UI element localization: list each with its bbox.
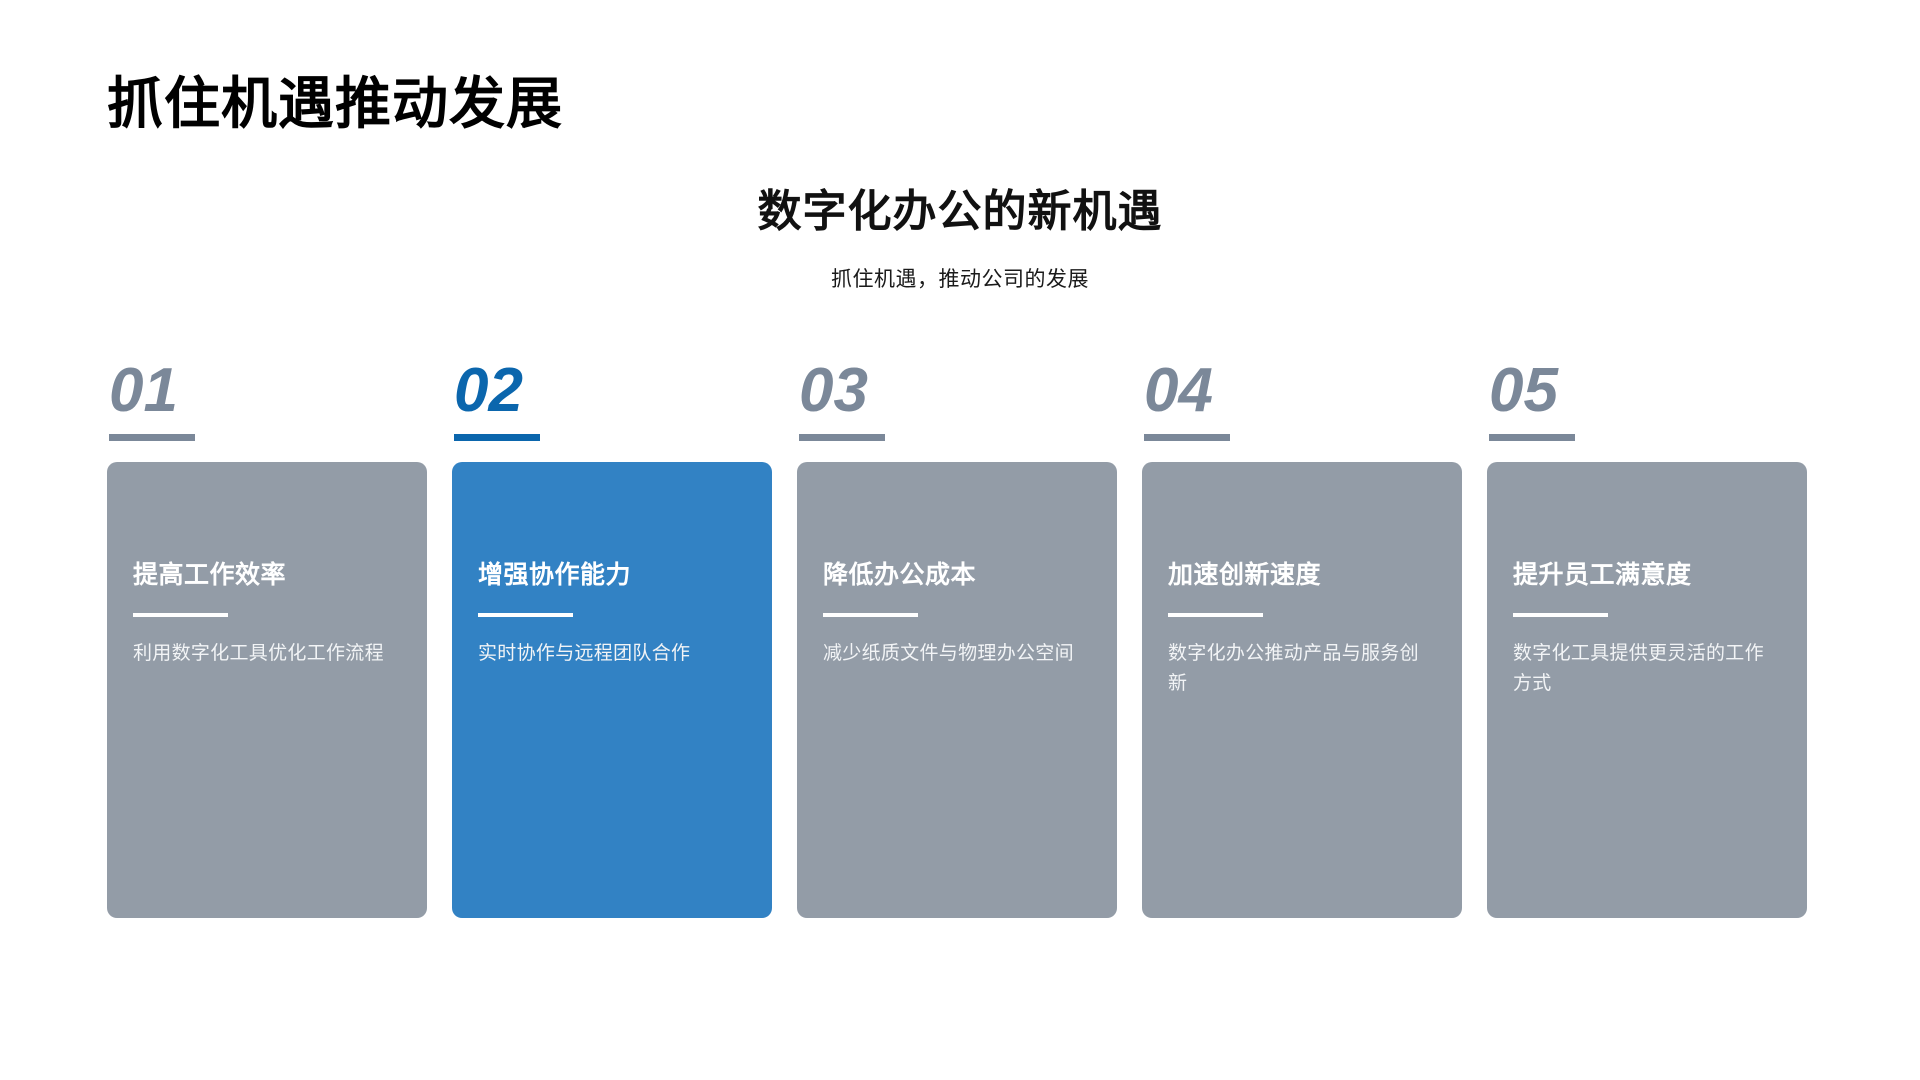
- card-number-wrap-05: 05: [1487, 360, 1807, 462]
- card-number-rule-01: [109, 434, 195, 441]
- heading-block: 数字化办公的新机遇 抓住机遇，推动公司的发展: [0, 186, 1920, 293]
- card-05[interactable]: 提升员工满意度 数字化工具提供更灵活的工作方式: [1487, 462, 1807, 918]
- card-03[interactable]: 降低办公成本 减少纸质文件与物理办公空间: [797, 462, 1117, 918]
- card-column-05: 05 提升员工满意度 数字化工具提供更灵活的工作方式: [1487, 360, 1807, 918]
- card-01[interactable]: 提高工作效率 利用数字化工具优化工作流程: [107, 462, 427, 918]
- page-title: 抓住机遇推动发展: [107, 72, 563, 136]
- card-number-wrap-01: 01: [107, 360, 427, 462]
- card-divider-04: [1168, 613, 1263, 617]
- card-divider-03: [823, 613, 918, 617]
- card-02[interactable]: 增强协作能力 实时协作与远程团队合作: [452, 462, 772, 918]
- section-heading: 数字化办公的新机遇: [0, 186, 1920, 239]
- card-number-group-04: 04: [1144, 360, 1230, 441]
- slide-canvas: 抓住机遇推动发展 数字化办公的新机遇 抓住机遇，推动公司的发展 01 提高工作效…: [0, 0, 1920, 1080]
- card-column-04: 04 加速创新速度 数字化办公推动产品与服务创新: [1142, 360, 1462, 918]
- card-divider-02: [478, 613, 573, 617]
- card-title-01: 提高工作效率: [133, 560, 401, 591]
- card-number-04: 04: [1144, 360, 1213, 428]
- card-number-rule-05: [1489, 434, 1575, 441]
- card-number-05: 05: [1489, 360, 1558, 428]
- card-number-group-01: 01: [109, 360, 195, 441]
- card-number-group-02: 02: [454, 360, 540, 441]
- card-number-01: 01: [109, 360, 178, 428]
- card-number-wrap-02: 02: [452, 360, 772, 462]
- card-number-03: 03: [799, 360, 868, 428]
- card-description-03: 减少纸质文件与物理办公空间: [823, 639, 1091, 668]
- card-number-group-05: 05: [1489, 360, 1575, 441]
- card-description-05: 数字化工具提供更灵活的工作方式: [1513, 639, 1781, 698]
- card-title-05: 提升员工满意度: [1513, 560, 1781, 591]
- card-description-02: 实时协作与远程团队合作: [478, 639, 746, 668]
- card-divider-05: [1513, 613, 1608, 617]
- card-number-group-03: 03: [799, 360, 885, 441]
- card-04[interactable]: 加速创新速度 数字化办公推动产品与服务创新: [1142, 462, 1462, 918]
- card-column-02: 02 增强协作能力 实时协作与远程团队合作: [452, 360, 772, 918]
- card-number-wrap-03: 03: [797, 360, 1117, 462]
- card-divider-01: [133, 613, 228, 617]
- card-title-03: 降低办公成本: [823, 560, 1091, 591]
- card-number-rule-02: [454, 434, 540, 441]
- card-column-03: 03 降低办公成本 减少纸质文件与物理办公空间: [797, 360, 1117, 918]
- card-number-rule-03: [799, 434, 885, 441]
- section-subheading: 抓住机遇，推动公司的发展: [0, 263, 1920, 293]
- card-title-02: 增强协作能力: [478, 560, 746, 591]
- card-number-wrap-04: 04: [1142, 360, 1462, 462]
- card-description-01: 利用数字化工具优化工作流程: [133, 639, 401, 668]
- card-number-rule-04: [1144, 434, 1230, 441]
- cards-row: 01 提高工作效率 利用数字化工具优化工作流程 02 增强协作能力: [107, 360, 1842, 918]
- card-title-04: 加速创新速度: [1168, 560, 1436, 591]
- card-description-04: 数字化办公推动产品与服务创新: [1168, 639, 1436, 698]
- card-number-02: 02: [454, 360, 523, 428]
- card-column-01: 01 提高工作效率 利用数字化工具优化工作流程: [107, 360, 427, 918]
